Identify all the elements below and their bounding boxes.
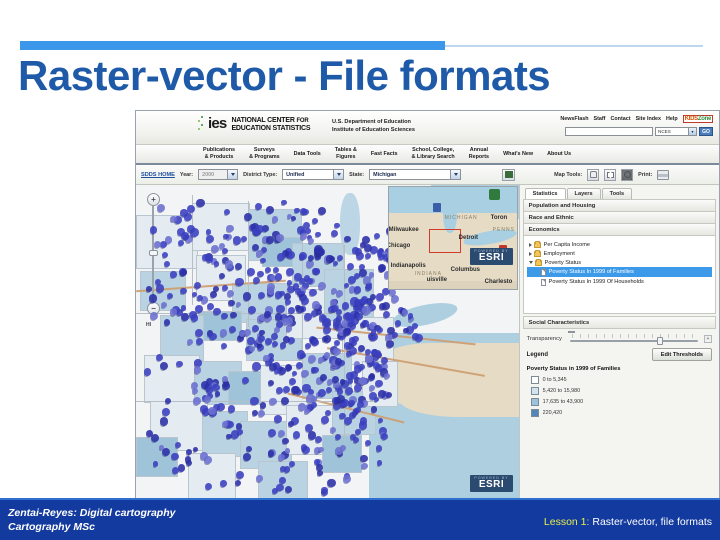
ies-logo[interactable]: ies NATIONAL CENTER FOR EDUCATION STATIS… bbox=[198, 116, 310, 133]
map-point-marker bbox=[248, 306, 256, 314]
state-label: State: bbox=[349, 172, 364, 178]
transparency-slider[interactable] bbox=[566, 334, 700, 344]
map-point-marker bbox=[403, 328, 409, 334]
map-point-marker bbox=[255, 203, 262, 210]
map-point-marker bbox=[293, 431, 301, 439]
nav-item-annual-reports[interactable]: Annual Reports bbox=[462, 147, 496, 161]
map-point-marker bbox=[347, 263, 354, 270]
map-point-marker bbox=[266, 206, 274, 214]
map-point-marker bbox=[186, 449, 192, 455]
nces-wordmark: NATIONAL CENTER FOR EDUCATION STATISTICS bbox=[231, 116, 310, 133]
nav-item-school-library-search[interactable]: School, College, & Library Search bbox=[405, 147, 462, 161]
map-point-marker bbox=[219, 273, 225, 279]
map-point-marker bbox=[227, 290, 234, 297]
footer-lesson: Lesson 1: Raster-vector, file formats bbox=[544, 516, 712, 528]
map-point-marker bbox=[233, 236, 241, 244]
map-point-marker bbox=[144, 368, 151, 375]
map-point-marker bbox=[176, 361, 183, 368]
statistics-panel: Statistics Layers Tools Population and H… bbox=[519, 185, 719, 500]
map-point-marker bbox=[170, 308, 177, 315]
transparency-expand-button[interactable]: + bbox=[704, 335, 712, 343]
tree-node-per-capita-income[interactable]: Per Capita Income bbox=[527, 240, 712, 249]
map-point-marker bbox=[319, 314, 327, 322]
map-point-marker bbox=[324, 352, 331, 359]
nav-item-about-us[interactable]: About Us bbox=[540, 151, 578, 158]
folder-open-icon bbox=[535, 260, 542, 266]
nav-item-tables-figures[interactable]: Tables & Figures bbox=[328, 147, 364, 161]
main-navigation: Publications & Products Surveys & Progra… bbox=[136, 145, 719, 165]
map-point-marker bbox=[294, 273, 302, 281]
map-point-marker bbox=[359, 377, 367, 385]
chevron-right-icon bbox=[529, 252, 532, 256]
map-point-marker bbox=[312, 367, 319, 374]
map-point-marker bbox=[308, 431, 316, 439]
map-point-marker bbox=[250, 397, 259, 406]
map-point-marker bbox=[348, 378, 354, 384]
map-point-marker bbox=[335, 358, 342, 365]
tab-statistics[interactable]: Statistics bbox=[525, 188, 566, 199]
map-point-marker bbox=[237, 429, 243, 435]
tab-tools[interactable]: Tools bbox=[602, 188, 633, 199]
chevron-down-icon bbox=[333, 170, 343, 179]
map-point-marker bbox=[171, 453, 178, 460]
accordion-race-and-ethnic[interactable]: Race and Ethnic bbox=[523, 212, 716, 224]
map-point-marker bbox=[305, 228, 311, 234]
map-point-marker bbox=[318, 357, 324, 363]
footer-author: Zentai-Reyes: Digital cartography Cartog… bbox=[8, 506, 175, 534]
nav-item-publications[interactable]: Publications & Products bbox=[196, 147, 242, 161]
map-point-marker bbox=[334, 340, 340, 346]
year-select[interactable]: 2000 bbox=[198, 169, 238, 180]
sdds-home-link[interactable]: SDDS HOME bbox=[141, 172, 175, 178]
map-point-marker bbox=[360, 242, 366, 248]
map-point-marker bbox=[226, 225, 233, 232]
map-point-marker bbox=[264, 311, 271, 318]
legend-item: 17,635 to 43,900 bbox=[523, 396, 716, 407]
map-point-marker bbox=[327, 479, 335, 487]
ies-dots-icon bbox=[198, 116, 205, 132]
map-point-marker bbox=[269, 363, 277, 371]
map-point-marker bbox=[222, 285, 228, 291]
chevron-down-icon bbox=[529, 261, 533, 264]
map-point-marker bbox=[360, 455, 368, 463]
map-point-marker bbox=[348, 276, 356, 284]
map-point-marker bbox=[372, 349, 378, 355]
util-link-staff[interactable]: Staff bbox=[594, 116, 606, 122]
map-point-marker bbox=[190, 228, 198, 236]
nav-item-whats-new[interactable]: What's New bbox=[496, 151, 540, 158]
map-point-marker bbox=[302, 384, 310, 392]
map-point-marker bbox=[289, 461, 295, 467]
map-point-marker bbox=[376, 293, 384, 301]
map-point-marker bbox=[146, 430, 153, 437]
map-point-marker bbox=[306, 394, 315, 403]
tab-layers[interactable]: Layers bbox=[567, 188, 601, 199]
folder-icon bbox=[534, 242, 541, 248]
map-point-marker bbox=[359, 421, 368, 430]
legend-item: 0 to 5,345 bbox=[523, 374, 716, 385]
map-point-marker bbox=[217, 403, 225, 411]
inset-city-label-milwaukee: Milwaukee bbox=[389, 227, 419, 233]
map-tools-label: Map Tools: bbox=[554, 172, 582, 178]
year-label: Year: bbox=[180, 172, 193, 178]
app-body: + − HI MICHIGAN INDIANA PENNS Milwau bbox=[136, 185, 719, 500]
map-point-marker bbox=[362, 306, 371, 315]
map-point-marker bbox=[371, 406, 377, 412]
inset-lake-michigan bbox=[443, 193, 457, 233]
kids-badge-text: KIDS bbox=[685, 116, 698, 122]
inset-extent-rectangle bbox=[429, 229, 461, 253]
nav-item-surveys[interactable]: Surveys & Programs bbox=[242, 147, 287, 161]
map-inset-overview[interactable]: MICHIGAN INDIANA PENNS Milwaukee Chicago… bbox=[388, 186, 518, 290]
map-point-marker bbox=[314, 245, 322, 253]
map-point-marker bbox=[355, 429, 361, 435]
map-point-marker bbox=[288, 421, 294, 427]
map-point-marker bbox=[200, 405, 208, 413]
legend-range: 17,635 to 43,900 bbox=[543, 399, 583, 405]
inset-city-label-chicago: Chicago bbox=[388, 243, 411, 249]
document-icon bbox=[541, 269, 547, 276]
map-point-marker bbox=[385, 334, 392, 341]
map-point-marker bbox=[333, 322, 340, 329]
map-point-marker bbox=[305, 424, 313, 432]
map-point-marker bbox=[256, 475, 263, 482]
map-point-marker bbox=[369, 392, 377, 400]
util-link-newsflash[interactable]: NewsFlash bbox=[560, 116, 588, 122]
map-point-marker bbox=[257, 271, 264, 278]
map-point-marker bbox=[318, 389, 326, 397]
map-point-marker bbox=[317, 470, 323, 476]
esri-logo-text: ESRI bbox=[474, 480, 508, 490]
map-point-marker bbox=[150, 312, 158, 320]
map-point-marker bbox=[337, 255, 343, 261]
map-point-marker bbox=[272, 216, 279, 223]
map-point-marker bbox=[265, 338, 272, 345]
map-point-marker bbox=[200, 452, 207, 459]
map-point-marker bbox=[300, 353, 306, 359]
map-point-marker bbox=[160, 362, 168, 370]
tree-node-label: Poverty Status In 1999 of Families bbox=[549, 269, 634, 275]
chevron-down-icon bbox=[227, 170, 237, 179]
map-point-marker bbox=[153, 461, 159, 467]
chevron-right-icon bbox=[529, 243, 532, 247]
map-point-marker bbox=[285, 486, 292, 493]
map-point-marker bbox=[205, 483, 212, 490]
map-point-marker bbox=[276, 234, 284, 242]
map-point-marker bbox=[355, 407, 361, 413]
footer-author-line1: Zentai-Reyes: Digital cartography bbox=[8, 506, 175, 520]
inset-state-label-michigan: MICHIGAN bbox=[445, 215, 478, 221]
tree-node-poverty-families[interactable]: Poverty Status In 1999 of Families bbox=[527, 267, 712, 277]
map-point-marker bbox=[156, 354, 163, 361]
map-point-marker bbox=[330, 427, 336, 433]
map-point-marker bbox=[283, 336, 290, 343]
tree-node-label: Poverty Status In 1999 Of Households bbox=[549, 279, 644, 285]
map-point-marker bbox=[375, 380, 383, 388]
zoom-box-tool-button[interactable] bbox=[604, 169, 616, 181]
dept-line1: U.S. Department of Education bbox=[332, 118, 415, 126]
map-point-marker bbox=[284, 466, 290, 472]
legend-item: 5,420 to 15,980 bbox=[523, 385, 716, 396]
map-point-marker bbox=[369, 385, 375, 391]
map-point-marker bbox=[287, 280, 293, 286]
state-select[interactable]: Michigan bbox=[369, 169, 461, 180]
nces-for: FOR bbox=[296, 118, 308, 124]
map-point-marker bbox=[346, 351, 352, 357]
inset-city-label-indianapolis: Indianapolis bbox=[391, 263, 426, 269]
map-point-marker bbox=[275, 273, 282, 280]
map-point-marker bbox=[336, 309, 342, 315]
legend-label: Legend bbox=[527, 352, 548, 358]
map-point-marker bbox=[196, 199, 204, 207]
map-point-marker bbox=[312, 301, 320, 309]
map-point-marker bbox=[228, 300, 235, 307]
map-point-marker bbox=[156, 284, 164, 292]
map-point-marker bbox=[244, 213, 252, 221]
legend-swatch bbox=[531, 387, 539, 395]
map-point-marker bbox=[276, 387, 284, 395]
util-link-help[interactable]: Help bbox=[666, 116, 678, 122]
map-point-marker bbox=[246, 446, 252, 452]
map-point-marker bbox=[344, 417, 352, 425]
map-point-marker bbox=[320, 374, 327, 381]
util-link-site-index[interactable]: Site Index bbox=[636, 116, 661, 122]
map-point-marker bbox=[222, 421, 228, 427]
map-point-marker bbox=[162, 408, 170, 416]
map-point-marker bbox=[412, 333, 419, 340]
map-point-marker bbox=[376, 445, 382, 451]
map-point-marker bbox=[308, 355, 316, 363]
rectangle-select-icon bbox=[607, 172, 614, 178]
map-point-marker bbox=[371, 329, 377, 335]
map-point-marker bbox=[247, 268, 255, 276]
map-point-marker bbox=[263, 355, 269, 361]
search-input[interactable] bbox=[565, 127, 653, 136]
tree-node-employment[interactable]: Employment bbox=[527, 249, 712, 258]
esri-logo-text: ESRI bbox=[474, 253, 508, 263]
map-point-marker bbox=[349, 337, 356, 344]
map-point-marker bbox=[258, 410, 265, 417]
search-scope-select[interactable]: NCES ▾ bbox=[655, 127, 697, 136]
map-scale-label: HI bbox=[146, 322, 151, 328]
slider-end-cap bbox=[568, 331, 575, 333]
district-type-label: District Type: bbox=[243, 172, 277, 178]
nces-line2: EDUCATION STATISTICS bbox=[231, 125, 310, 133]
map-point-marker bbox=[258, 292, 265, 299]
district-type-select[interactable]: Unified bbox=[282, 169, 344, 180]
map-point-marker bbox=[230, 312, 237, 319]
map-point-marker bbox=[175, 442, 181, 448]
map-point-marker bbox=[323, 326, 331, 334]
map-point-marker bbox=[196, 338, 203, 345]
map-point-marker bbox=[187, 339, 193, 345]
utility-links: NewsFlash Staff Contact Site Index Help … bbox=[560, 115, 713, 123]
map-point-marker bbox=[299, 252, 307, 260]
legend-range: 220,420 bbox=[543, 410, 563, 416]
edit-thresholds-button[interactable]: Edit Thresholds bbox=[652, 348, 712, 361]
nav-item-data-tools[interactable]: Data Tools bbox=[287, 151, 328, 158]
map-point-marker bbox=[210, 291, 217, 298]
slider-handle[interactable] bbox=[657, 337, 663, 345]
nces-line1: NATIONAL CENTER bbox=[231, 117, 294, 124]
map-point-marker bbox=[165, 398, 171, 404]
map-point-marker bbox=[195, 305, 203, 313]
map-point-marker bbox=[228, 405, 236, 413]
map-point-marker bbox=[326, 387, 332, 393]
map-point-marker bbox=[343, 328, 351, 336]
map-point-marker bbox=[243, 292, 251, 300]
inset-city-label-toronto: Toron bbox=[491, 215, 508, 221]
map-point-marker bbox=[256, 250, 263, 257]
map-point-marker bbox=[386, 392, 392, 398]
identify-tool-button[interactable] bbox=[621, 169, 633, 181]
tree-node-poverty-households[interactable]: Poverty Status In 1999 Of Households bbox=[527, 277, 712, 287]
map-point-marker bbox=[222, 376, 228, 382]
legend-header-row: Legend Edit Thresholds bbox=[523, 346, 716, 364]
map-point-marker bbox=[260, 258, 266, 264]
map-point-marker bbox=[191, 314, 199, 322]
chevron-down-icon: ▾ bbox=[688, 128, 696, 135]
map-point-marker bbox=[214, 261, 220, 267]
map-point-marker bbox=[206, 229, 212, 235]
map-point-marker bbox=[215, 391, 221, 397]
map-point-marker bbox=[226, 434, 232, 440]
map-point-marker bbox=[275, 313, 283, 321]
kids-zone-badge[interactable]: KIDSZone bbox=[683, 115, 713, 123]
map-point-marker bbox=[309, 289, 317, 297]
map-point-marker bbox=[268, 429, 276, 437]
accordion-social-characteristics[interactable]: Social Characteristics bbox=[523, 316, 716, 329]
footer-lesson-topic: Raster-vector, file formats bbox=[589, 516, 712, 528]
document-icon bbox=[541, 279, 547, 286]
map-point-marker bbox=[243, 453, 251, 461]
legend-swatch bbox=[531, 376, 539, 384]
map-point-marker bbox=[146, 286, 152, 292]
district-type-value: Unified bbox=[286, 172, 304, 178]
map-point-marker bbox=[172, 467, 179, 474]
map-point-marker bbox=[157, 204, 165, 212]
map-point-marker bbox=[354, 365, 362, 373]
map-point-marker bbox=[344, 236, 350, 242]
map-point-marker bbox=[318, 207, 326, 215]
map-point-marker bbox=[187, 205, 195, 213]
map-point-marker bbox=[378, 390, 385, 397]
folder-icon bbox=[534, 251, 541, 257]
footer-lesson-label: Lesson 1: bbox=[544, 516, 590, 528]
map-point-marker bbox=[170, 216, 177, 223]
map-point-marker bbox=[383, 311, 390, 318]
inset-city-label-louisville: uisville bbox=[427, 277, 447, 283]
printer-icon[interactable] bbox=[657, 170, 669, 180]
legend-range: 5,420 to 15,980 bbox=[543, 388, 580, 394]
map-point-marker bbox=[274, 415, 282, 423]
map-point-marker bbox=[282, 318, 289, 325]
map-point-marker bbox=[235, 278, 244, 287]
map-point-marker bbox=[295, 288, 301, 294]
kids-badge-suffix: Zone bbox=[698, 116, 711, 122]
accordion-economics[interactable]: Economics bbox=[523, 224, 716, 236]
map-point-marker bbox=[282, 438, 289, 445]
legend-title: Poverty Status in 1999 of Families bbox=[523, 364, 716, 374]
year-value: 2000 bbox=[202, 172, 214, 178]
search-go-button[interactable]: GO bbox=[699, 127, 713, 136]
map-point-marker bbox=[279, 477, 286, 484]
map-point-marker bbox=[285, 448, 291, 454]
slider-track bbox=[570, 340, 698, 342]
legend-swatch bbox=[531, 398, 539, 406]
map-point-marker bbox=[361, 463, 368, 470]
map-point-marker bbox=[280, 342, 287, 349]
map-canvas[interactable]: + − HI MICHIGAN INDIANA PENNS Milwau bbox=[136, 185, 519, 500]
map-point-marker bbox=[181, 305, 187, 311]
map-point-marker bbox=[336, 290, 343, 297]
title-accent-bar bbox=[20, 41, 445, 50]
map-point-marker bbox=[149, 294, 157, 302]
map-point-marker bbox=[213, 308, 220, 315]
map-point-marker bbox=[247, 337, 255, 345]
map-point-marker bbox=[296, 306, 304, 314]
map-point-marker bbox=[162, 448, 170, 456]
map-point-marker bbox=[223, 234, 229, 240]
map-point-marker bbox=[321, 487, 328, 494]
map-point-marker bbox=[265, 267, 271, 273]
pan-tool-button[interactable] bbox=[587, 169, 599, 181]
inset-highway-shield-icon bbox=[433, 203, 441, 212]
statistics-tree: Per Capita Income Employment Poverty Sta… bbox=[523, 236, 716, 314]
map-point-marker bbox=[335, 447, 343, 455]
tree-node-label: Per Capita Income bbox=[544, 242, 590, 248]
esri-badge-inset: POWERED BY ESRI bbox=[470, 248, 512, 265]
map-point-marker bbox=[408, 313, 414, 319]
chevron-down-icon bbox=[450, 170, 460, 179]
ies-acronym: ies bbox=[208, 116, 226, 131]
inset-city-label-detroit: Detroit bbox=[459, 235, 478, 241]
state-value: Michigan bbox=[373, 172, 396, 178]
circle-identify-icon bbox=[624, 171, 631, 178]
map-point-marker bbox=[301, 370, 308, 377]
zoom-slider-handle[interactable] bbox=[149, 250, 158, 256]
map-point-marker bbox=[235, 263, 242, 270]
util-link-contact[interactable]: Contact bbox=[610, 116, 630, 122]
map-point-marker bbox=[381, 357, 388, 364]
tree-node-poverty-status[interactable]: Poverty Status bbox=[527, 258, 712, 267]
map-point-marker bbox=[342, 302, 350, 310]
map-point-marker bbox=[285, 299, 291, 305]
slider-ticks bbox=[572, 334, 696, 338]
export-map-button[interactable] bbox=[502, 169, 515, 181]
map-point-marker bbox=[160, 417, 168, 425]
map-point-marker bbox=[221, 313, 227, 319]
transparency-control: Transparency + bbox=[523, 329, 716, 346]
legend-range: 0 to 5,345 bbox=[543, 377, 567, 383]
map-landmass-peninsula bbox=[399, 381, 519, 417]
map-point-marker bbox=[304, 409, 310, 415]
accordion-population-and-housing[interactable]: Population and Housing bbox=[523, 199, 716, 212]
map-point-marker bbox=[365, 355, 373, 363]
esri-badge-main: POWERED BY ESRI bbox=[470, 475, 512, 492]
map-point-marker bbox=[277, 253, 285, 261]
map-point-marker bbox=[386, 340, 394, 348]
nav-item-fast-facts[interactable]: Fast Facts bbox=[364, 151, 405, 158]
map-point-marker bbox=[276, 305, 284, 313]
map-point-marker bbox=[308, 238, 314, 244]
map-point-marker bbox=[204, 396, 212, 404]
map-point-marker bbox=[272, 488, 278, 494]
map-point-marker bbox=[384, 373, 390, 379]
map-point-marker bbox=[164, 261, 170, 267]
hand-icon bbox=[590, 171, 597, 178]
map-point-marker bbox=[195, 329, 203, 337]
